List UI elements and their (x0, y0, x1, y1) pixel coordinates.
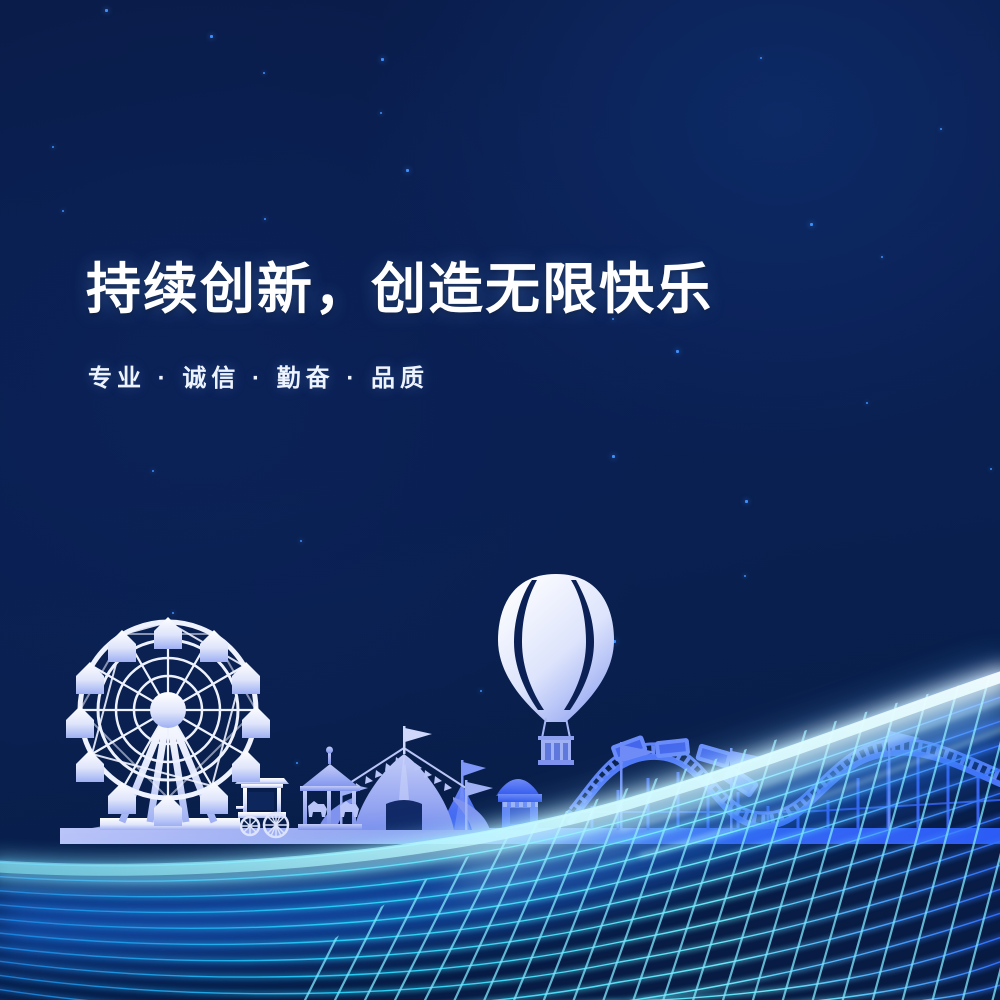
promo-poster: 持续创新，创造无限快乐 专业 · 诚信 · 勤奋 · 品质 (0, 0, 1000, 1000)
page-title: 持续创新，创造无限快乐 (86, 258, 906, 322)
page-subtitle: 专业 · 诚信 · 勤奋 · 品质 (88, 358, 906, 393)
text-block: 持续创新，创造无限快乐 专业 · 诚信 · 勤奋 · 品质 (86, 258, 906, 393)
glowing-wave-mesh (0, 0, 1000, 1000)
